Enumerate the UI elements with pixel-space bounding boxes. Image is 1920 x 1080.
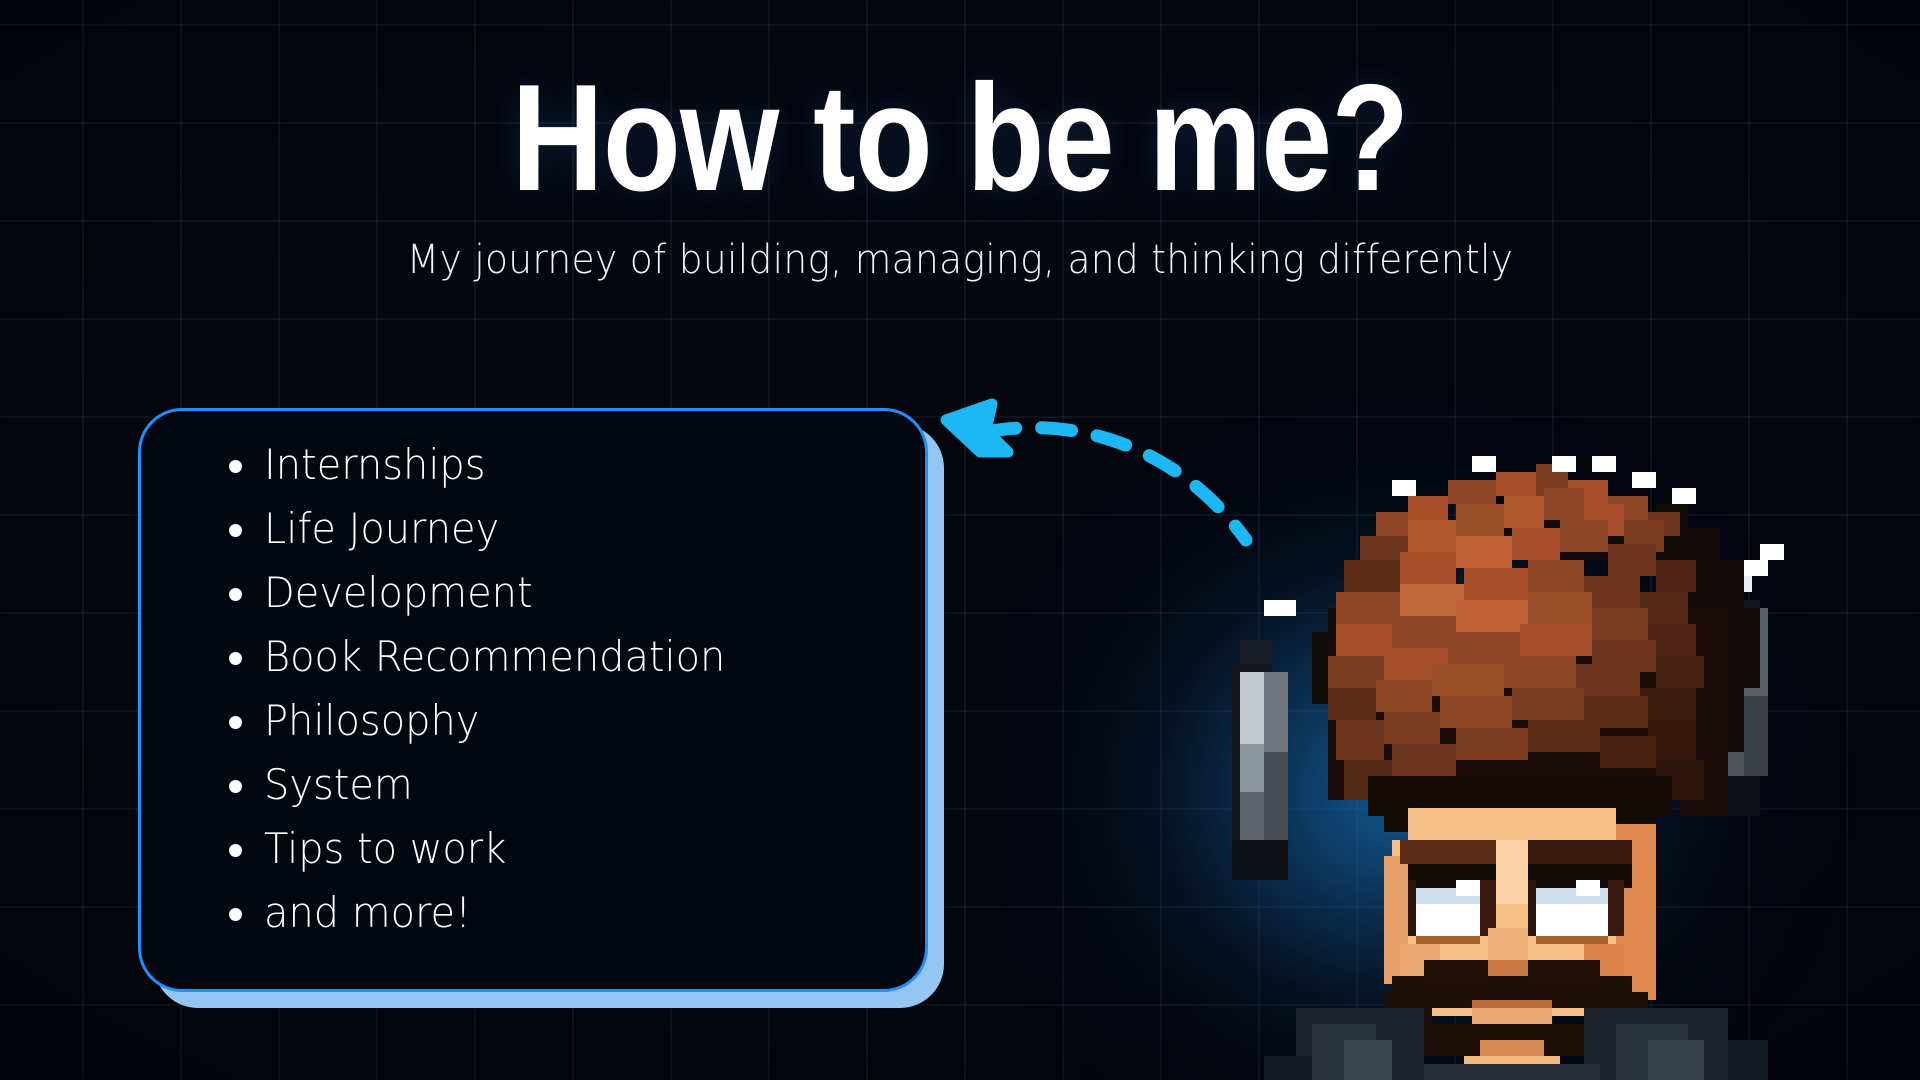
list-item[interactable]: Internships xyxy=(229,444,925,508)
bullet-dot-icon xyxy=(229,844,242,857)
list-item-label: Internships xyxy=(264,444,486,486)
list-item-label: Life Journey xyxy=(264,508,499,550)
list-item[interactable]: Book Recommendation xyxy=(229,636,925,700)
list-item[interactable]: Tips to work xyxy=(229,828,925,892)
page-subtitle: My journey of building, managing, and th… xyxy=(58,214,1863,280)
list-item-label: Book Recommendation xyxy=(264,636,725,678)
bullet-dot-icon xyxy=(229,588,242,601)
list-item-label: Development xyxy=(264,572,533,614)
bullet-dot-icon xyxy=(229,524,242,537)
list-item-label: and more! xyxy=(264,892,471,934)
topics-card: Internships Life Journey Development Boo… xyxy=(138,408,928,992)
page-title: How to be me? xyxy=(154,0,1767,214)
slide-canvas: How to be me? My journey of building, ma… xyxy=(0,0,1920,1080)
list-item-label: Philosophy xyxy=(264,700,479,742)
bullet-dot-icon xyxy=(229,716,242,729)
card-body: Internships Life Journey Development Boo… xyxy=(138,408,928,992)
bullet-dot-icon xyxy=(229,460,242,473)
list-item[interactable]: Philosophy xyxy=(229,700,925,764)
list-item-label: System xyxy=(264,764,413,806)
list-item[interactable]: System xyxy=(229,764,925,828)
list-item[interactable]: Life Journey xyxy=(229,508,925,572)
list-item-label: Tips to work xyxy=(264,828,506,870)
header: How to be me? My journey of building, ma… xyxy=(0,0,1920,280)
bullet-dot-icon xyxy=(229,908,242,921)
topics-list: Internships Life Journey Development Boo… xyxy=(141,411,925,989)
bullet-dot-icon xyxy=(229,780,242,793)
list-item[interactable]: Development xyxy=(229,572,925,636)
bullet-dot-icon xyxy=(229,652,242,665)
list-item[interactable]: and more! xyxy=(229,892,925,956)
pixel-art-avatar-icon xyxy=(1232,432,1792,1080)
